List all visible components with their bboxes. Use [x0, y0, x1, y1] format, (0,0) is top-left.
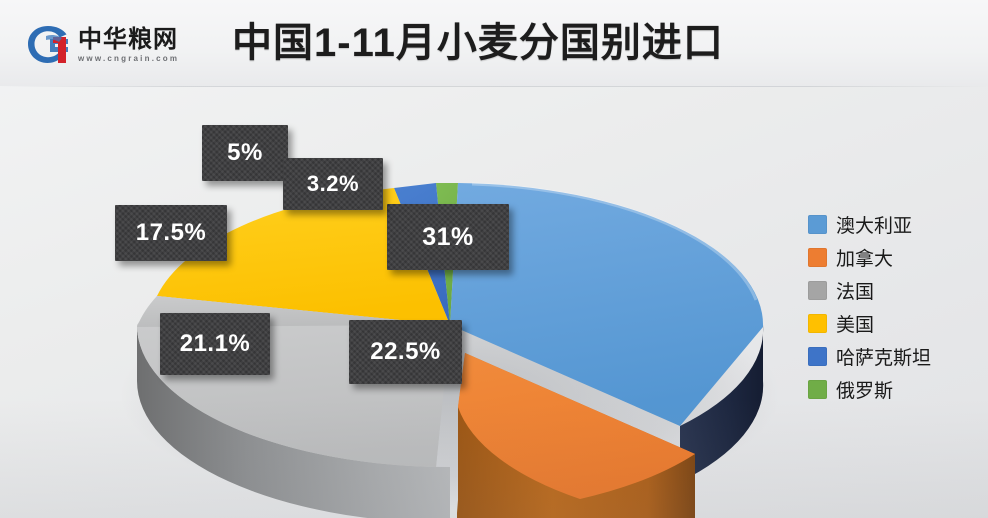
legend-label: 澳大利亚: [836, 211, 912, 238]
legend-swatch-icon: [808, 281, 827, 300]
logo-text: 中华粮网 www.cngrain.com: [78, 27, 179, 63]
legend-item-kazakhstan[interactable]: 哈萨克斯坦: [808, 344, 980, 369]
legend-swatch-icon: [808, 380, 827, 399]
data-label-usa: 17.5%: [115, 205, 227, 261]
slide-canvas: 中华粮网 www.cngrain.com 中国1-11月小麦分国别进口: [0, 0, 988, 518]
legend-item-australia[interactable]: 澳大利亚: [808, 212, 980, 237]
legend-label: 俄罗斯: [836, 376, 893, 403]
page-title: 中国1-11月小麦分国别进口: [232, 14, 832, 72]
logo-name: 中华粮网: [78, 27, 179, 52]
data-label-russia: 3.2%: [283, 158, 383, 210]
legend-swatch-icon: [808, 248, 827, 267]
cngrain-logo-icon: [26, 23, 72, 67]
legend-item-canada[interactable]: 加拿大: [808, 245, 980, 270]
data-label-kazakhstan: 5%: [202, 125, 288, 181]
legend-label: 法国: [836, 277, 874, 304]
legend-swatch-icon: [808, 215, 827, 234]
chart-legend: 澳大利亚 加拿大 法国 美国 哈萨克斯坦 俄罗斯: [808, 212, 980, 402]
legend-swatch-icon: [808, 347, 827, 366]
legend-item-usa[interactable]: 美国: [808, 311, 980, 336]
data-label-france: 21.1%: [160, 313, 270, 375]
logo-url: www.cngrain.com: [78, 54, 179, 63]
data-label-australia: 31%: [387, 204, 509, 270]
legend-label: 加拿大: [836, 244, 893, 271]
data-label-canada: 22.5%: [349, 320, 462, 384]
legend-item-russia[interactable]: 俄罗斯: [808, 377, 980, 402]
legend-swatch-icon: [808, 314, 827, 333]
header-divider: [0, 86, 988, 87]
legend-label: 美国: [836, 310, 874, 337]
site-logo: 中华粮网 www.cngrain.com: [26, 20, 216, 70]
legend-item-france[interactable]: 法国: [808, 278, 980, 303]
legend-label: 哈萨克斯坦: [836, 343, 931, 370]
